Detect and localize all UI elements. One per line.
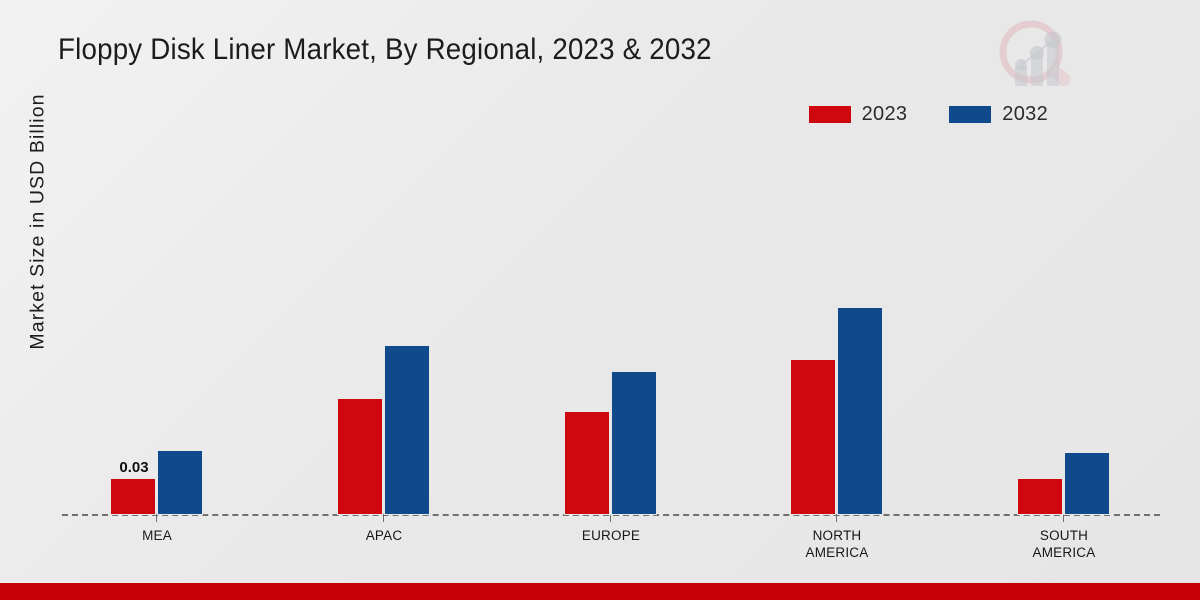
bar-2032-europe[interactable] [611,371,657,515]
bar-value-label-mea-2023: 0.03 [109,459,159,476]
chart-canvas: Floppy Disk Liner Market, By Regional, 2… [0,0,1200,600]
x-axis-tick-apac [383,515,384,522]
x-axis-tick-south-america [1063,515,1064,522]
x-axis-label-south-america-line1: SOUTH [989,527,1139,544]
x-axis-label-europe: EUROPE [536,527,686,544]
bar-2032-south-america[interactable] [1064,452,1110,515]
bar-2023-north-america[interactable] [790,359,836,515]
bar-2023-europe[interactable] [564,411,610,515]
x-axis-label-south-america-line2: AMERICA [989,544,1139,561]
bar-2023-south-america[interactable] [1017,478,1063,515]
bottom-accent-bar [0,583,1200,600]
bar-2032-north-america[interactable] [837,307,883,515]
x-axis-label-mea: MEA [82,527,232,544]
bar-2032-apac[interactable] [384,345,430,515]
bar-2023-apac[interactable] [337,398,383,515]
plot-area: 0.03 MEA APAC EUROPE [0,0,1200,600]
x-axis-label-apac-line1: APAC [309,527,459,544]
bar-2023-mea[interactable]: 0.03 [110,478,156,515]
x-axis-tick-north-america [836,515,837,522]
x-axis-tick-europe [610,515,611,522]
x-axis-label-europe-line1: EUROPE [536,527,686,544]
bar-2032-mea[interactable] [157,450,203,515]
x-axis-label-north-america: NORTH AMERICA [762,527,912,561]
x-axis-label-north-america-line2: AMERICA [762,544,912,561]
x-axis-label-south-america: SOUTH AMERICA [989,527,1139,561]
x-axis-label-north-america-line1: NORTH [762,527,912,544]
x-axis-tick-mea [156,515,157,522]
x-axis-label-apac: APAC [309,527,459,544]
x-axis-label-mea-line1: MEA [82,527,232,544]
